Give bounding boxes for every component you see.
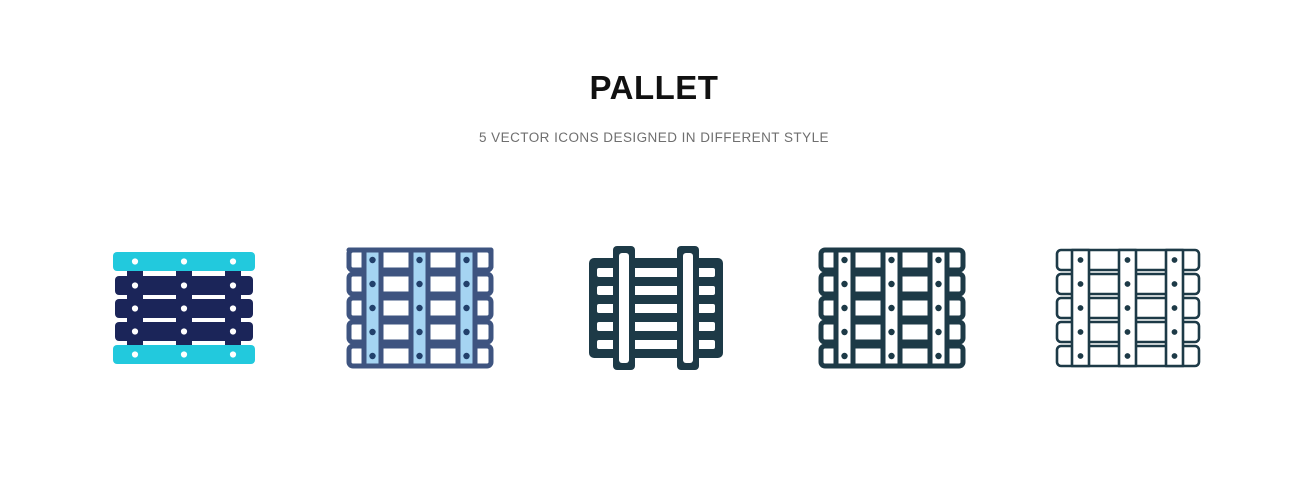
icon-cell-2[interactable] — [302, 228, 538, 388]
pallet-two-tone-filled-icon[interactable] — [113, 252, 255, 364]
pallet-solid-glyph-icon[interactable] — [589, 246, 723, 370]
pallet-two-tone-outline-icon[interactable] — [346, 247, 494, 369]
icon-row — [0, 228, 1308, 388]
icon-cell-1[interactable] — [66, 228, 302, 388]
icon-cell-4[interactable] — [774, 228, 1010, 388]
pallet-outline-thin-icon[interactable] — [1054, 247, 1202, 369]
page-title: PALLET — [0, 0, 1308, 104]
icon-cell-5[interactable] — [1010, 228, 1246, 388]
pallet-outline-bold-icon[interactable] — [818, 247, 966, 369]
page-subtitle: 5 VECTOR ICONS DESIGNED IN DIFFERENT STY… — [0, 104, 1308, 145]
header: PALLET 5 VECTOR ICONS DESIGNED IN DIFFER… — [0, 0, 1308, 145]
icon-cell-3[interactable] — [538, 228, 774, 388]
icon-sheet-page: PALLET 5 VECTOR ICONS DESIGNED IN DIFFER… — [0, 0, 1308, 500]
